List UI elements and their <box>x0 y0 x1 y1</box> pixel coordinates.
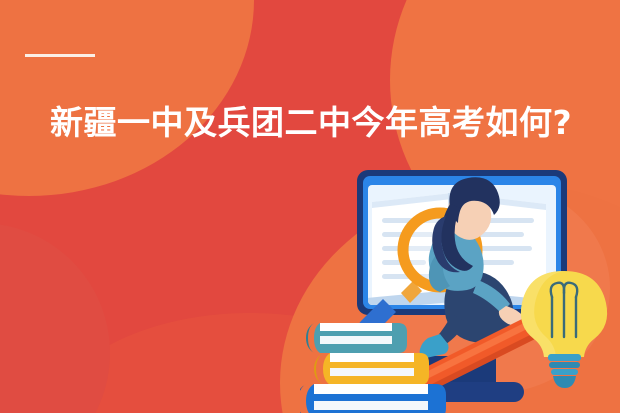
background-circle-top-left <box>0 0 254 196</box>
light-bulb <box>521 271 607 388</box>
divider-rule <box>25 54 95 57</box>
promo-banner: 新疆一中及兵团二中今年高考如何? <box>0 0 620 413</box>
online-learning-research-illustration <box>300 160 620 413</box>
page-title: 新疆一中及兵团二中今年高考如何? <box>50 102 572 144</box>
background-circle-bottom-left <box>0 223 110 413</box>
book-stack <box>300 323 446 413</box>
